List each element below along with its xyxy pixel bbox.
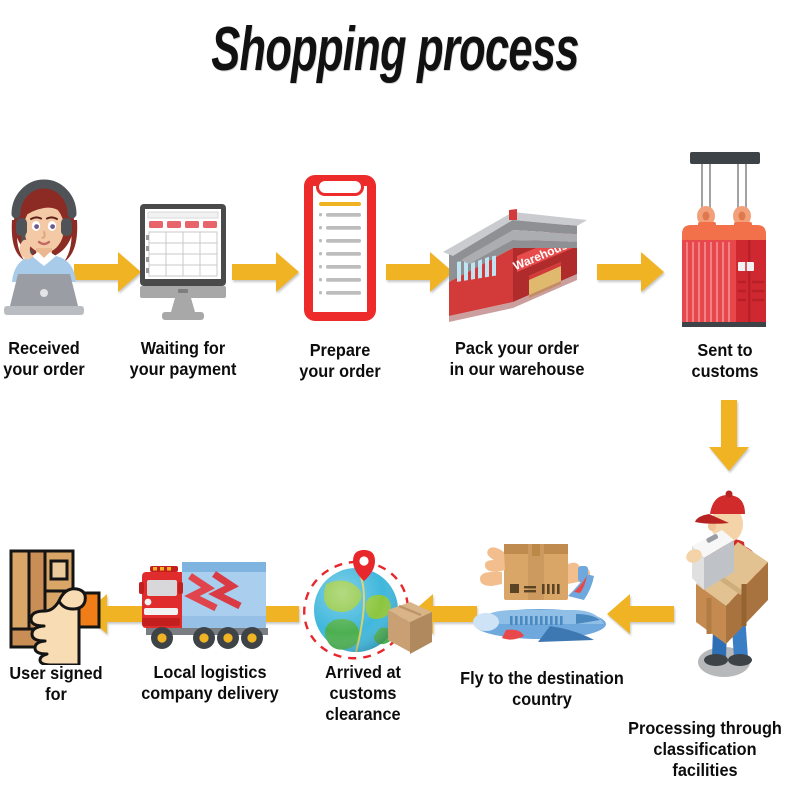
step-processing-through-classification-facilities[interactable]: Processing through classification facili…	[620, 480, 790, 760]
step-fly-to-the-destination-country[interactable]: Fly to the destination country	[452, 530, 632, 720]
hand-receiving-parcel-icon	[0, 545, 117, 665]
step-received-your-order[interactable]: Received your order	[0, 170, 94, 390]
step-user-signed-for[interactable]: User signed for	[0, 545, 117, 725]
step-label-arrived-at-customs-clearance: Arrived at customs clearance	[293, 662, 433, 725]
globe-location-parcel-icon	[288, 540, 438, 670]
page-title: Shopping process	[119, 14, 672, 85]
arrow-4-icon	[597, 250, 665, 294]
delivery-courier-icon	[630, 480, 790, 680]
computer-monitor-spreadsheet-icon	[118, 200, 248, 325]
step-label-prepare-your-order: Prepare your order	[287, 340, 393, 382]
step-prepare-your-order[interactable]: Prepare your order	[283, 172, 397, 390]
delivery-truck-icon	[132, 550, 288, 660]
step-arrived-at-customs-clearance[interactable]: Arrived at customs clearance	[288, 540, 438, 720]
step-label-user-signed-for: User signed for	[0, 663, 113, 705]
step-pack-your-order-in-our-warehouse[interactable]: Warehouse Pack your order in our warehou…	[437, 190, 597, 390]
customer-service-agent-icon	[0, 170, 94, 330]
step-sent-to-customs[interactable]: Sent to customs	[660, 150, 790, 390]
step-label-received-your-order: Received your order	[0, 338, 91, 380]
shipping-container-crane-icon	[660, 150, 790, 340]
step-label-sent-to-customs: Sent to customs	[665, 340, 786, 382]
arrow-down-icon	[707, 400, 751, 472]
step-label-fly-to-the-destination-country: Fly to the destination country	[458, 668, 625, 710]
warehouse-building-icon: Warehouse	[437, 190, 597, 340]
step-label-waiting-for-your-payment: Waiting for your payment	[123, 338, 244, 380]
step-label-pack-your-order-in-our-warehouse: Pack your order in our warehouse	[443, 338, 592, 380]
diagram-canvas: Shopping process	[0, 0, 790, 790]
step-waiting-for-your-payment[interactable]: Waiting for your payment	[118, 200, 248, 390]
step-label-local-logistics-company-delivery: Local logistics company delivery	[137, 662, 282, 704]
airplane-parcel-icon	[452, 530, 632, 670]
step-local-logistics-company-delivery[interactable]: Local logistics company delivery	[132, 550, 288, 720]
clipboard-checklist-icon	[283, 172, 397, 327]
step-label-processing-through-classification-facilities: Processing through classification facili…	[626, 718, 784, 781]
